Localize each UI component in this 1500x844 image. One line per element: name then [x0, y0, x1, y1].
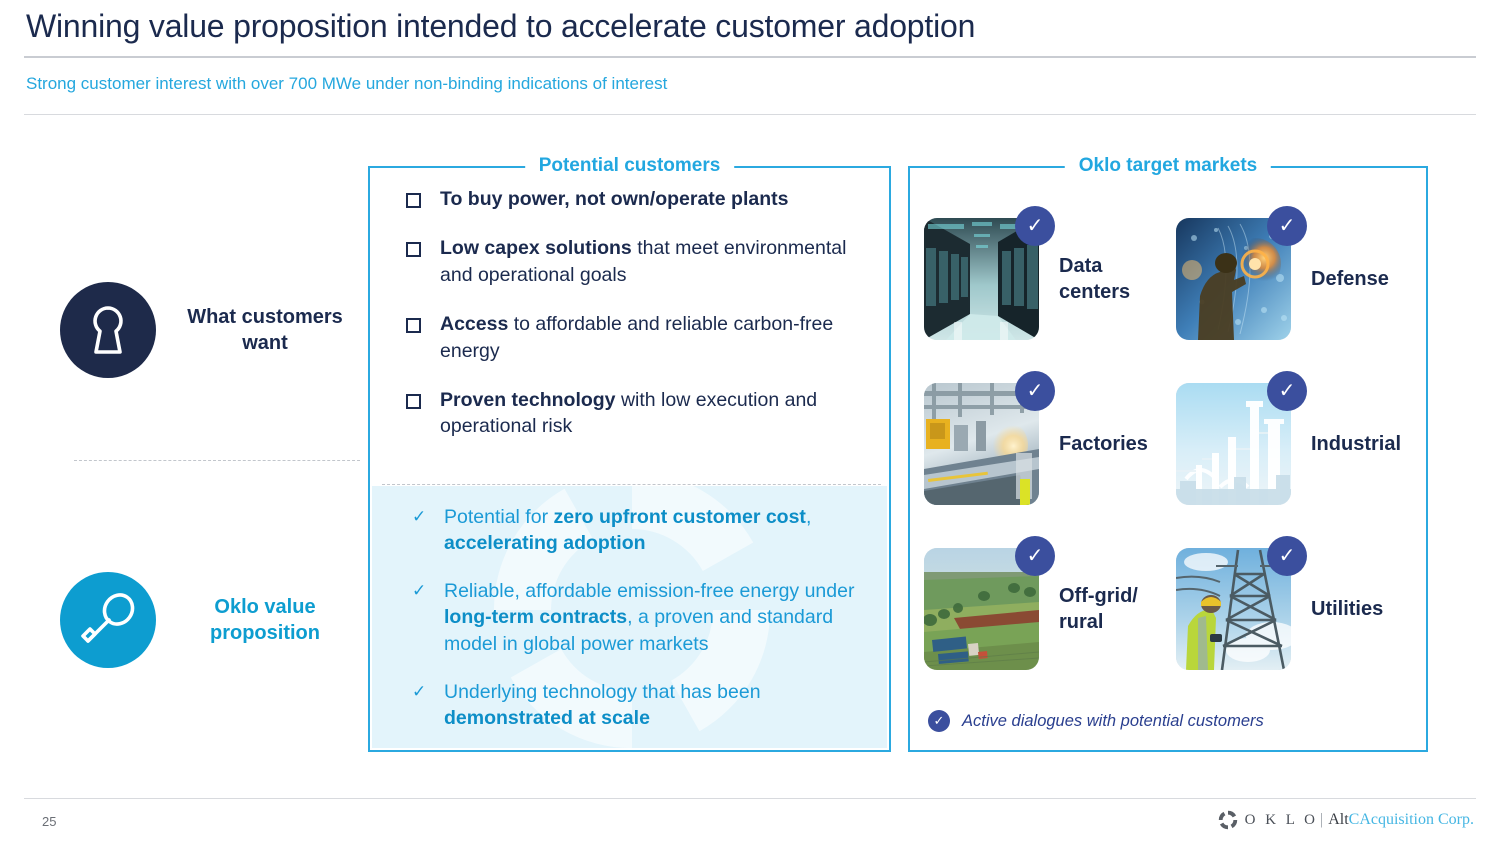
header-divider-bottom — [24, 114, 1476, 115]
list-item-text: To buy power, not own/operate plants — [440, 186, 789, 213]
check-icon: ✓ — [412, 582, 428, 656]
vp-bold: long-term contracts — [444, 606, 627, 628]
vp-bold2: accelerating adoption — [444, 532, 646, 554]
left-column: What customers want Oklo value propositi… — [60, 160, 360, 760]
vp-bold: zero upfront customer cost — [553, 506, 805, 528]
list-item-text: Reliable, affordable emission-free energ… — [444, 578, 859, 656]
thumbnail-wrap: ✓ — [1176, 548, 1291, 670]
footer-divider — [24, 798, 1476, 799]
thumbnail-wrap: ✓ — [1176, 218, 1291, 340]
value-proposition-list: ✓ Potential for zero upfront customer co… — [372, 504, 887, 748]
list-item-text: Access to affordable and reliable carbon… — [440, 311, 859, 365]
check-icon: ✓ — [412, 508, 428, 556]
checkbox-icon — [406, 193, 421, 208]
oklo-target-markets-title: Oklo target markets — [1065, 155, 1271, 177]
value-proposition-block: ✓ Potential for zero upfront customer co… — [372, 486, 887, 748]
thumbnail-wrap: ✓ — [924, 548, 1039, 670]
thumbnail-wrap: ✓ — [1176, 383, 1291, 505]
market-item-data-centers[interactable]: ✓ Data centers — [924, 196, 1176, 361]
markets-footnote-text: Active dialogues with potential customer… — [962, 712, 1264, 731]
list-item: To buy power, not own/operate plants — [406, 186, 859, 213]
markets-footnote: ✓ Active dialogues with potential custom… — [928, 710, 1264, 732]
market-label: Factories — [1059, 431, 1169, 457]
checkbox-icon — [406, 242, 421, 257]
checkbox-icon — [406, 394, 421, 409]
check-icon: ✓ — [412, 683, 428, 731]
key-icon — [60, 572, 156, 668]
market-label: Data centers — [1059, 253, 1169, 305]
potential-customers-panel: Potential customers To buy power, not ow… — [368, 166, 891, 752]
list-item: Access to affordable and reliable carbon… — [406, 311, 859, 365]
left-item-label: Oklo value proposition — [180, 594, 350, 647]
slide: Winning value proposition intended to ac… — [0, 0, 1500, 844]
market-label: Utilities — [1311, 596, 1414, 622]
logo-c-text: C — [1349, 811, 1360, 829]
check-badge-icon: ✓ — [1015, 536, 1055, 576]
list-item: ✓ Reliable, affordable emission-free ene… — [412, 578, 859, 656]
list-item: Proven technology with low execution and… — [406, 387, 859, 441]
left-column-divider — [74, 460, 360, 461]
oklo-target-markets-panel: Oklo target markets — [908, 166, 1428, 752]
market-item-industrial[interactable]: ✓ Industrial — [1176, 361, 1414, 526]
market-item-defense[interactable]: ✓ Defense — [1176, 196, 1414, 361]
list-item: ✓ Underlying technology that has been de… — [412, 679, 859, 731]
panel-inner-divider — [382, 484, 881, 485]
vp-pre: Reliable, affordable emission-free energ… — [444, 580, 854, 602]
thumbnail-wrap: ✓ — [924, 218, 1039, 340]
page-title: Winning value proposition intended to ac… — [26, 8, 975, 45]
list-item-bold: Low capex solutions — [440, 237, 632, 259]
list-item-text: Proven technology with low execution and… — [440, 387, 859, 441]
thumbnail-wrap: ✓ — [924, 383, 1039, 505]
market-item-off-grid-rural[interactable]: ✓ Off-grid/ rural — [924, 526, 1176, 691]
page-subtitle: Strong customer interest with over 700 M… — [26, 74, 667, 94]
markets-grid: ✓ Data centers — [924, 196, 1414, 691]
check-badge-icon: ✓ — [1015, 206, 1055, 246]
check-badge-icon: ✓ — [1267, 371, 1307, 411]
market-label: Off-grid/ rural — [1059, 583, 1169, 635]
list-item-bold: Proven technology — [440, 389, 616, 411]
left-item-label: What customers want — [180, 304, 350, 357]
checkbox-icon — [406, 318, 421, 333]
header-divider-top — [24, 56, 1476, 58]
keyhole-icon — [60, 282, 156, 378]
logo-rest-text: Acquisition Corp. — [1359, 811, 1474, 829]
check-badge-icon: ✓ — [1267, 536, 1307, 576]
logo-alt-text: Alt — [1328, 811, 1348, 829]
market-item-utilities[interactable]: ✓ Utilities — [1176, 526, 1414, 691]
check-badge-icon: ✓ — [1267, 206, 1307, 246]
list-item-text: Underlying technology that has been demo… — [444, 679, 859, 731]
potential-customers-title: Potential customers — [525, 155, 735, 177]
vp-pre: Potential for — [444, 506, 553, 528]
oklo-ring-icon — [1218, 810, 1238, 830]
page-number: 25 — [42, 814, 56, 829]
left-item-what-customers-want: What customers want — [60, 282, 360, 378]
list-item-bold: Access — [440, 313, 508, 335]
list-item-text: Low capex solutions that meet environmen… — [440, 235, 859, 289]
logo-divider: | — [1320, 811, 1323, 829]
list-item: Low capex solutions that meet environmen… — [406, 235, 859, 289]
footer-logo: O K L O | AltC Acquisition Corp. — [1218, 810, 1474, 830]
check-badge-icon: ✓ — [1015, 371, 1055, 411]
list-item-text: Potential for zero upfront customer cost… — [444, 504, 859, 556]
list-item-bold: To buy power, not own/operate plants — [440, 188, 789, 210]
market-item-factories[interactable]: ✓ Factories — [924, 361, 1176, 526]
potential-customers-list: To buy power, not own/operate plants Low… — [370, 186, 893, 440]
market-label: Defense — [1311, 266, 1414, 292]
logo-oklo-text: O K L O — [1245, 812, 1318, 829]
check-badge-icon: ✓ — [928, 710, 950, 732]
vp-mid: , — [806, 506, 811, 528]
left-item-oklo-value-proposition: Oklo value proposition — [60, 572, 360, 668]
list-item: ✓ Potential for zero upfront customer co… — [412, 504, 859, 556]
vp-bold: demonstrated at scale — [444, 707, 650, 729]
market-label: Industrial — [1311, 431, 1414, 457]
vp-pre: Underlying technology that has been — [444, 681, 761, 703]
